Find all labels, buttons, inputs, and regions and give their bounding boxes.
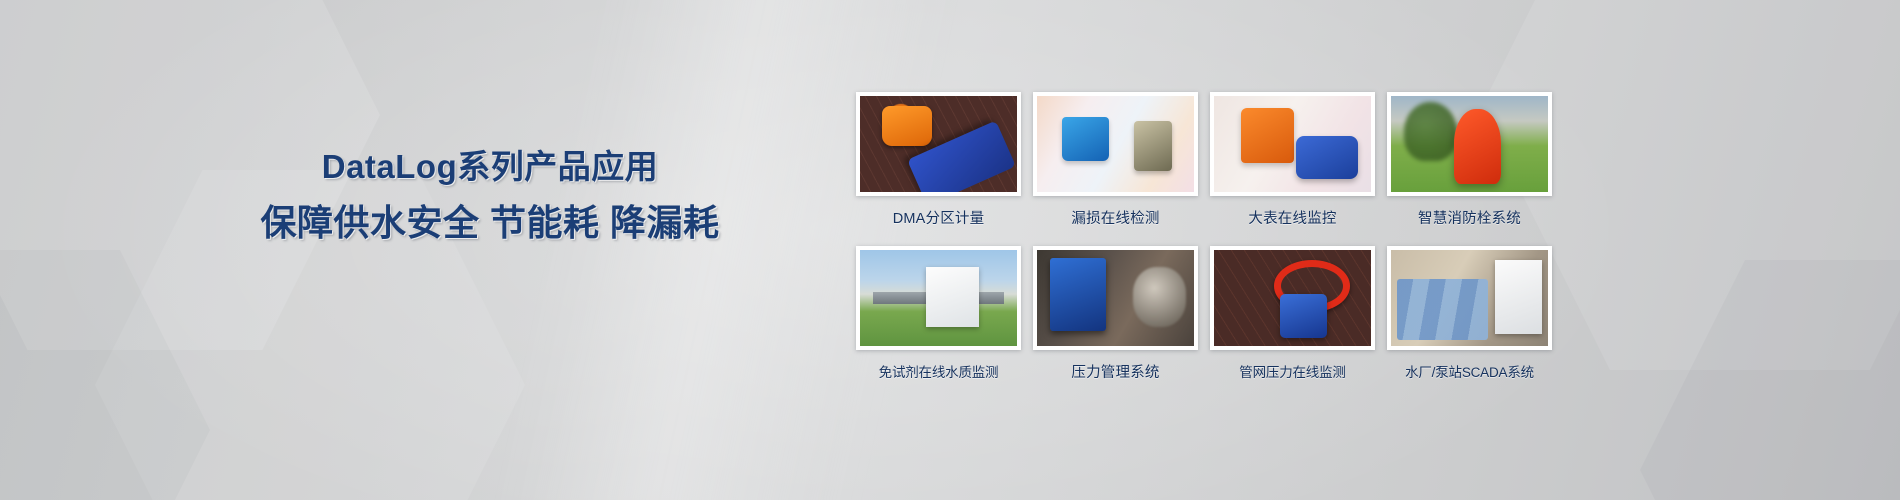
product-thumbnail[interactable] xyxy=(1033,246,1198,350)
product-card-large-meter-monitor[interactable]: 大表在线监控 xyxy=(1210,92,1375,228)
scada-system-photo xyxy=(1391,250,1548,346)
product-thumbnail[interactable] xyxy=(1210,92,1375,196)
product-card-grid: DMA分区计量 漏损在线检测 大表在线监控 智慧消防栓系统 免试剂在线水质监测 xyxy=(856,92,1576,382)
product-caption: 管网压力在线监测 xyxy=(1210,361,1375,381)
product-caption: 智慧消防栓系统 xyxy=(1387,207,1552,228)
product-caption: 免试剂在线水质监测 xyxy=(856,361,1021,381)
product-card-pipe-pressure-monitor[interactable]: 管网压力在线监测 xyxy=(1210,246,1375,382)
dma-metering-photo xyxy=(860,96,1017,192)
headline-line-1: DataLog系列产品应用 xyxy=(255,146,725,187)
product-card-smart-hydrant[interactable]: 智慧消防栓系统 xyxy=(1387,92,1552,228)
pressure-management-photo xyxy=(1037,250,1194,346)
product-thumbnail[interactable] xyxy=(856,246,1021,350)
leak-detection-photo xyxy=(1037,96,1194,192)
product-card-scada-system[interactable]: 水厂/泵站SCADA系统 xyxy=(1387,246,1552,382)
product-caption: DMA分区计量 xyxy=(856,207,1021,228)
product-thumbnail[interactable] xyxy=(856,92,1021,196)
product-caption: 漏损在线检测 xyxy=(1033,207,1198,228)
banner-headline: DataLog系列产品应用 保障供水安全 节能耗 降漏耗 xyxy=(255,146,725,251)
large-meter-monitor-photo xyxy=(1214,96,1371,192)
product-caption: 水厂/泵站SCADA系统 xyxy=(1387,361,1552,381)
product-caption: 压力管理系统 xyxy=(1033,361,1198,382)
product-card-water-quality[interactable]: 免试剂在线水质监测 xyxy=(856,246,1021,382)
headline-line-2: 保障供水安全 节能耗 降漏耗 xyxy=(255,195,725,251)
product-thumbnail[interactable] xyxy=(1387,246,1552,350)
promo-banner: DataLog系列产品应用 保障供水安全 节能耗 降漏耗 DMA分区计量 漏损在… xyxy=(0,0,1900,500)
water-quality-monitor-photo xyxy=(860,250,1017,346)
product-caption: 大表在线监控 xyxy=(1210,207,1375,228)
smart-hydrant-photo xyxy=(1391,96,1548,192)
product-thumbnail[interactable] xyxy=(1387,92,1552,196)
product-card-dma-metering[interactable]: DMA分区计量 xyxy=(856,92,1021,228)
product-card-pressure-management[interactable]: 压力管理系统 xyxy=(1033,246,1198,382)
product-card-leak-detection[interactable]: 漏损在线检测 xyxy=(1033,92,1198,228)
product-thumbnail[interactable] xyxy=(1033,92,1198,196)
product-thumbnail[interactable] xyxy=(1210,246,1375,350)
pipe-pressure-monitor-photo xyxy=(1214,250,1371,346)
